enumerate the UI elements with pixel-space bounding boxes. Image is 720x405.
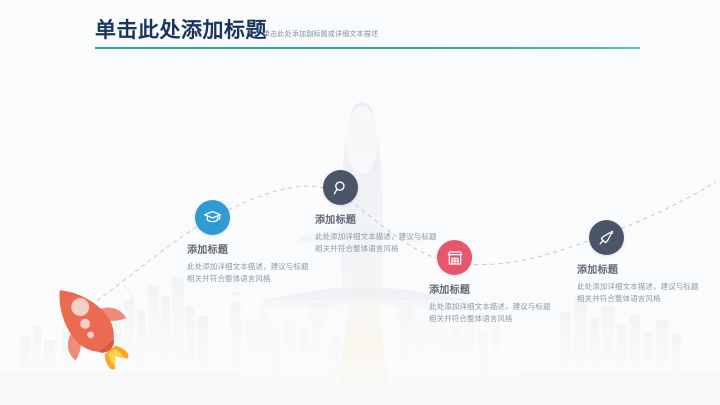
engine-trail: [336, 250, 392, 405]
storefront-icon: [446, 249, 464, 267]
callout-item-2[interactable]: 添加标题 此处添加详细文本描述，建议与标题相关并符合整体语言风格: [307, 170, 432, 254]
storefront-badge[interactable]: [437, 240, 472, 275]
callout-title: 添加标题: [577, 264, 692, 278]
page-subtitle: 单击此处添加副标题或详细文本描述: [263, 29, 378, 41]
callout-title: 添加标题: [315, 214, 432, 228]
title-underline-rule: [95, 47, 640, 49]
graduation-cap-icon: [203, 208, 222, 227]
megaphone-icon: [597, 228, 616, 247]
graduation-cap-badge[interactable]: [195, 200, 230, 235]
callout-item-4[interactable]: 添加标题 此处添加详细文本描述，建议与标题相关并符合整体语言风格: [567, 220, 692, 304]
callout-item-3[interactable]: 添加标题 此处添加详细文本描述，建议与标题相关并符合整体语言风格: [427, 240, 552, 324]
rocket-illustration: [36, 272, 140, 376]
slide-canvas: 单击此处添加标题 单击此处添加副标题或详细文本描述 添加标题 此处添加详细文本描…: [0, 0, 720, 405]
magnifier-badge[interactable]: [323, 170, 358, 205]
callout-description: 此处添加详细文本描述，建议与标题相关并符合整体语言风格: [315, 231, 437, 254]
magnifier-icon: [332, 179, 350, 197]
callout-title: 添加标题: [187, 244, 312, 258]
callout-title: 添加标题: [429, 284, 552, 298]
page-title: 单击此处添加标题: [95, 18, 267, 44]
callout-description: 此处添加详细文本描述，建议与标题相关并符合整体语言风格: [577, 281, 699, 304]
megaphone-badge[interactable]: [589, 220, 624, 255]
callout-description: 此处添加详细文本描述，建议与标题相关并符合整体语言风格: [187, 261, 309, 284]
callout-item-1[interactable]: 添加标题 此处添加详细文本描述，建议与标题相关并符合整体语言风格: [187, 200, 312, 284]
callout-description: 此处添加详细文本描述，建议与标题相关并符合整体语言风格: [429, 301, 551, 324]
